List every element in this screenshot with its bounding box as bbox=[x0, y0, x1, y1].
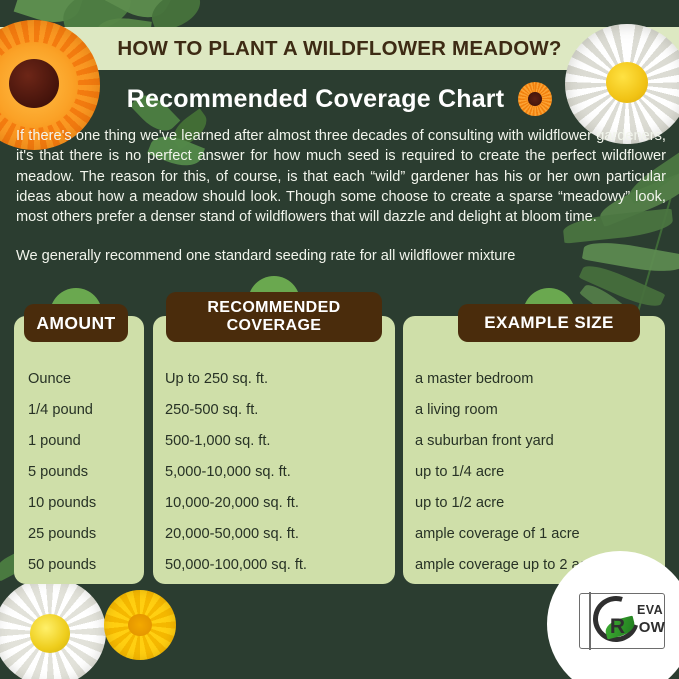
logo-text-ow: OW bbox=[639, 619, 665, 636]
logo-text-eva: EVA bbox=[637, 603, 663, 617]
page-subtitle: Recommended Coverage Chart bbox=[127, 85, 505, 114]
column-example-size: a master bedroom a living room a suburba… bbox=[403, 316, 665, 584]
page-title: HOW TO PLANT A WILDFLOWER MEADOW? bbox=[117, 37, 561, 61]
column-header-example: EXAMPLE SIZE bbox=[458, 304, 640, 342]
column-example-rows: a master bedroom a living room a suburba… bbox=[403, 364, 665, 581]
table-row: up to 1/4 acre bbox=[403, 457, 665, 488]
column-header-coverage-label: RECOMMENDED COVERAGE bbox=[166, 292, 382, 342]
flower-center bbox=[9, 59, 59, 108]
table-row: ample coverage of 1 acre bbox=[403, 519, 665, 550]
table-row: a master bedroom bbox=[403, 364, 665, 395]
table-row: 1 pound bbox=[14, 426, 144, 457]
table-row: 5,000-10,000 sq. ft. bbox=[153, 457, 395, 488]
column-header-coverage-line-1: RECOMMENDED bbox=[207, 299, 340, 317]
coverage-table: Ounce 1/4 pound 1 pound 5 pounds 10 poun… bbox=[0, 316, 679, 586]
table-row: 500-1,000 sq. ft. bbox=[153, 426, 395, 457]
table-row: 250-500 sq. ft. bbox=[153, 395, 395, 426]
column-header-example-label: EXAMPLE SIZE bbox=[458, 304, 640, 342]
column-header-amount: AMOUNT bbox=[24, 304, 128, 342]
table-row: a living room bbox=[403, 395, 665, 426]
table-row: 5 pounds bbox=[14, 457, 144, 488]
table-row: 20,000-50,000 sq. ft. bbox=[153, 519, 395, 550]
table-row: up to 1/2 acre bbox=[403, 488, 665, 519]
logo-mark: EVA R OW bbox=[579, 593, 665, 649]
table-row: Up to 250 sq. ft. bbox=[153, 364, 395, 395]
table-row: Ounce bbox=[14, 364, 144, 395]
table-row: 10,000-20,000 sq. ft. bbox=[153, 488, 395, 519]
yellow-coreopsis-flower bbox=[104, 590, 176, 660]
column-amount: Ounce 1/4 pound 1 pound 5 pounds 10 poun… bbox=[14, 316, 144, 584]
orange-flower-icon bbox=[518, 82, 552, 116]
flower-center bbox=[528, 92, 542, 106]
flower-center bbox=[606, 62, 648, 103]
table-row: a suburban front yard bbox=[403, 426, 665, 457]
column-amount-rows: Ounce 1/4 pound 1 pound 5 pounds 10 poun… bbox=[14, 364, 144, 581]
white-daisy-flower-bottom-left bbox=[0, 578, 106, 679]
flower-center bbox=[30, 614, 70, 653]
body-copy: If there's one thing we've learned after… bbox=[16, 126, 666, 267]
column-header-amount-label: AMOUNT bbox=[24, 304, 128, 342]
infographic-poster: HOW TO PLANT A WILDFLOWER MEADOW? Recomm… bbox=[0, 0, 679, 679]
column-header-coverage: RECOMMENDED COVERAGE bbox=[166, 292, 382, 342]
flower-center bbox=[128, 614, 151, 636]
column-header-coverage-line-2: COVERAGE bbox=[207, 317, 340, 335]
recommendation-paragraph: We generally recommend one standard seed… bbox=[16, 246, 666, 266]
table-row: 1/4 pound bbox=[14, 395, 144, 426]
column-coverage-rows: Up to 250 sq. ft. 250-500 sq. ft. 500-1,… bbox=[153, 364, 395, 581]
intro-paragraph: If there's one thing we've learned after… bbox=[16, 126, 666, 227]
table-row: 25 pounds bbox=[14, 519, 144, 550]
logo-text-r: R bbox=[610, 615, 625, 639]
table-row: 50 pounds bbox=[14, 550, 144, 581]
column-recommended-coverage: Up to 250 sq. ft. 250-500 sq. ft. 500-1,… bbox=[153, 316, 395, 584]
table-row: 10 pounds bbox=[14, 488, 144, 519]
table-row: 50,000-100,000 sq. ft. bbox=[153, 550, 395, 581]
